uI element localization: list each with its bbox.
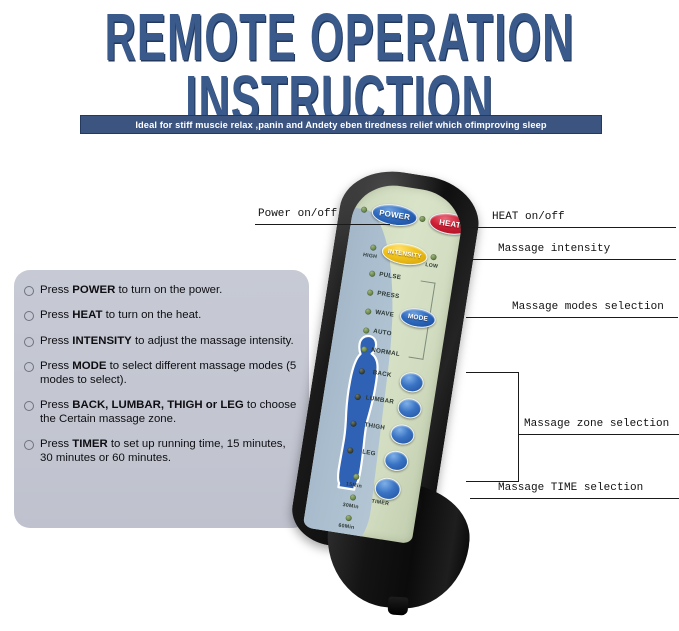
circle-bullet-icon — [24, 362, 34, 372]
list-item: Press BACK, LUMBAR, THIGH or LEG to choo… — [22, 399, 299, 426]
list-item: Press POWER to turn on the power. — [22, 284, 299, 297]
callout-power-label: Power on/off — [258, 208, 337, 220]
zone-lumbar-button[interactable] — [396, 397, 423, 421]
instruction-text: Press MODE to select different massage m… — [40, 360, 299, 387]
callout-heat-leader — [466, 227, 676, 228]
intensity-low-label: LOW — [425, 262, 439, 270]
mode-normal-led — [361, 346, 368, 353]
subtitle-text: Ideal for stiff muscie relax ,panin and … — [135, 120, 546, 130]
callout-time-label: Massage TIME selection — [498, 482, 643, 494]
circle-bullet-icon — [24, 337, 34, 347]
instruction-text: Press POWER to turn on the power. — [40, 284, 299, 297]
zone-back-button[interactable] — [398, 371, 425, 395]
callout-modes-leader — [466, 317, 678, 318]
callout-zones-label: Massage zone selection — [524, 418, 669, 430]
remote-control-device: POWER HEAT HIGH INTENSITY LOW PULSE PRES… — [300, 165, 520, 631]
remote-cable-nub — [388, 596, 409, 615]
page-title: REMOTE OPERATION INSTRUCTION — [0, 2, 679, 107]
list-item: Press MODE to select different massage m… — [22, 360, 299, 387]
heat-led — [419, 216, 426, 223]
callout-intensity-leader — [472, 259, 676, 260]
callout-zones-leader — [518, 434, 679, 435]
timer-button[interactable] — [373, 476, 402, 502]
timer-60min-led — [345, 515, 352, 522]
callout-modes-label: Massage modes selection — [512, 301, 664, 313]
subtitle-banner: Ideal for stiff muscie relax ,panin and … — [80, 115, 602, 134]
circle-bullet-icon — [24, 401, 34, 411]
timer-15min-led — [353, 473, 360, 480]
circle-bullet-icon — [24, 440, 34, 450]
circle-bullet-icon — [24, 311, 34, 321]
list-item: Press INTENSITY to adjust the massage in… — [22, 335, 299, 348]
intensity-high-led — [370, 244, 377, 251]
circle-bullet-icon — [24, 286, 34, 296]
instruction-text: Press BACK, LUMBAR, THIGH or LEG to choo… — [40, 399, 299, 426]
zone-thigh-button[interactable] — [389, 423, 416, 447]
instructions-panel: Press POWER to turn on the power. Press … — [14, 270, 309, 528]
zone-back-led — [358, 368, 365, 375]
timer-30min-led — [350, 494, 357, 501]
zone-leg-led — [347, 447, 354, 454]
mode-wave-led — [365, 308, 372, 315]
intensity-low-led — [430, 254, 437, 261]
instruction-text: Press INTENSITY to adjust the massage in… — [40, 335, 299, 348]
callout-time-leader — [470, 498, 679, 499]
poster-root: REMOTE OPERATION INSTRUCTION Ideal for s… — [0, 0, 679, 631]
list-item: Press TIMER to set up running time, 15 m… — [22, 438, 299, 465]
mode-pulse-led — [369, 270, 376, 277]
zone-thigh-led — [350, 420, 357, 427]
instruction-text: Press HEAT to turn on the heat. — [40, 309, 299, 322]
callout-zones-bracket-top — [466, 372, 519, 373]
instruction-text: Press TIMER to set up running time, 15 m… — [40, 438, 299, 465]
callout-power-leader — [255, 224, 390, 225]
callout-intensity-label: Massage intensity — [498, 243, 610, 255]
zone-leg-button[interactable] — [383, 449, 410, 473]
zone-lumbar-led — [354, 394, 361, 401]
title-line-1: REMOTE OPERATION — [0, 8, 679, 69]
callout-zones-bracket-vline — [518, 372, 519, 482]
power-led — [361, 206, 368, 213]
callout-heat-label: HEAT on/off — [492, 211, 565, 223]
mode-auto-led — [363, 327, 370, 334]
list-item: Press HEAT to turn on the heat. — [22, 309, 299, 322]
mode-press-led — [367, 289, 374, 296]
